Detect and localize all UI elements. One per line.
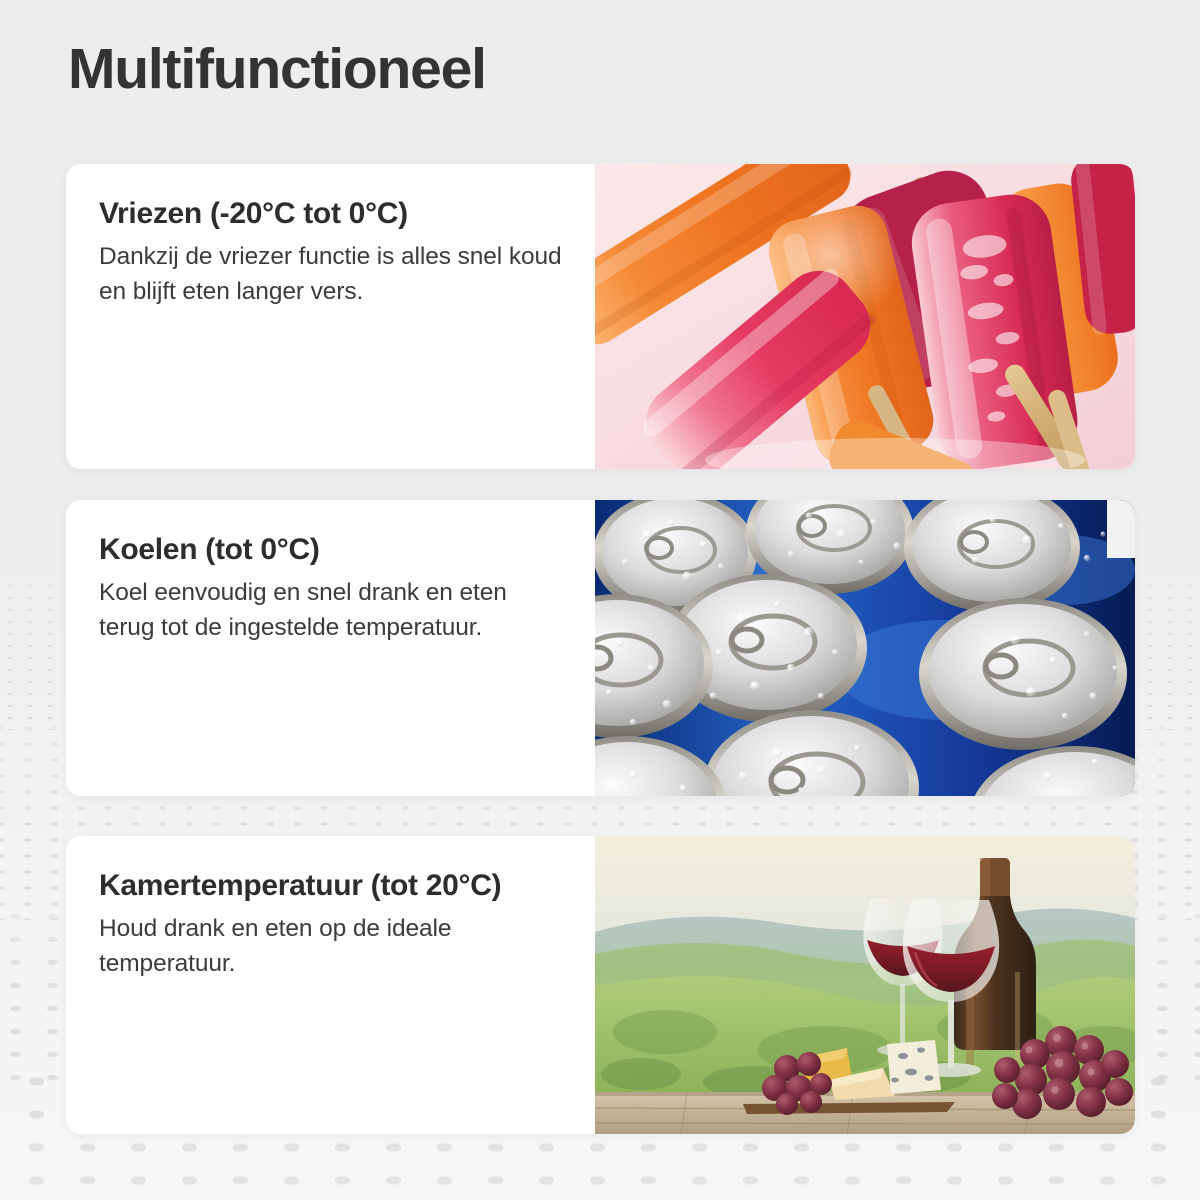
- feature-card-kamertemperatuur: Kamertemperatuur (tot 20°C) Houd drank e…: [66, 836, 1135, 1134]
- card-body: Houd drank en eten op de ideale temperat…: [99, 911, 565, 983]
- feature-card-list: Vriezen (-20°C tot 0°C) Dankzij de vriez…: [0, 0, 1200, 1200]
- card-media: [595, 500, 1135, 796]
- card-text-block: Koelen (tot 0°C) Koel eenvoudig en snel …: [66, 500, 595, 796]
- card-media: [595, 164, 1135, 469]
- card-media: [595, 836, 1135, 1134]
- card-title: Vriezen (-20°C tot 0°C): [99, 196, 565, 233]
- card-title: Kamertemperatuur (tot 20°C): [99, 868, 565, 905]
- card-body: Dankzij de vriezer functie is alles snel…: [99, 239, 565, 311]
- wine-cheese-photo: [595, 836, 1135, 1134]
- page-title: Multifunctioneel: [68, 40, 486, 100]
- cold-cans-photo: [595, 500, 1135, 796]
- feature-card-vriezen: Vriezen (-20°C tot 0°C) Dankzij de vriez…: [66, 164, 1135, 469]
- popsicles-photo: [595, 164, 1135, 469]
- promo-page: Multifunctioneel Vriezen (-20°C tot 0°C)…: [0, 0, 1200, 1200]
- feature-card-koelen: Koelen (tot 0°C) Koel eenvoudig en snel …: [66, 500, 1135, 796]
- card-text-block: Kamertemperatuur (tot 20°C) Houd drank e…: [66, 836, 595, 1134]
- card-text-block: Vriezen (-20°C tot 0°C) Dankzij de vriez…: [66, 164, 595, 469]
- card-title: Koelen (tot 0°C): [99, 532, 565, 569]
- card-body: Koel eenvoudig en snel drank en eten ter…: [99, 575, 565, 647]
